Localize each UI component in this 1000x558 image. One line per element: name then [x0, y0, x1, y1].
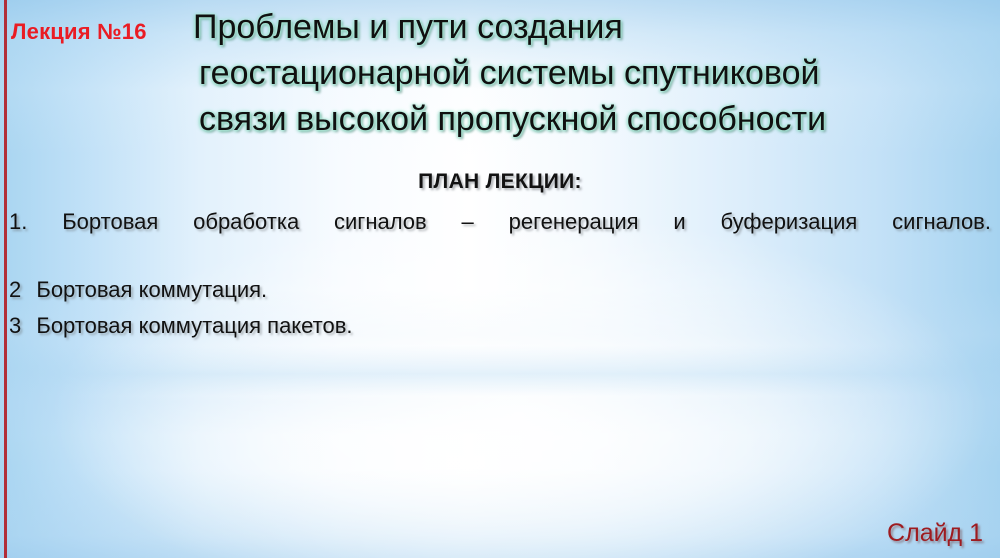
plan-list: 1. Бортовая обработка сигналов – регенер…: [9, 206, 991, 346]
plan-item-number: 3: [9, 313, 21, 338]
slide-number-label: Слайд 1: [887, 519, 983, 548]
plan-item-number: 1.: [9, 209, 27, 234]
presentation-slide: Лекция №16 Проблемы и пути создания геос…: [0, 0, 1000, 558]
plan-list-item: 1. Бортовая обработка сигналов – регенер…: [9, 206, 991, 270]
plan-item-text: Бортовая обработка сигналов – регенераци…: [62, 209, 991, 234]
plan-item-text: Бортовая коммутация пакетов.: [36, 313, 352, 338]
plan-list-item: 3 Бортовая коммутация пакетов.: [9, 310, 991, 342]
left-edge-red-rule: [4, 0, 7, 558]
lecture-number-label: Лекция №16: [11, 19, 147, 45]
plan-list-item: 2 Бортовая коммутация.: [9, 274, 991, 306]
title-line-3: связи высокой пропускной способности: [193, 96, 993, 142]
plan-item-number: 2: [9, 277, 21, 302]
title-line-2: геостационарной системы спутниковой: [193, 50, 993, 96]
slide-title: Проблемы и пути создания геостационарной…: [193, 4, 993, 142]
plan-item-text: Бортовая коммутация.: [36, 277, 267, 302]
plan-heading: ПЛАН ЛЕКЦИИ:: [0, 170, 1000, 194]
title-line-1: Проблемы и пути создания: [193, 4, 993, 50]
